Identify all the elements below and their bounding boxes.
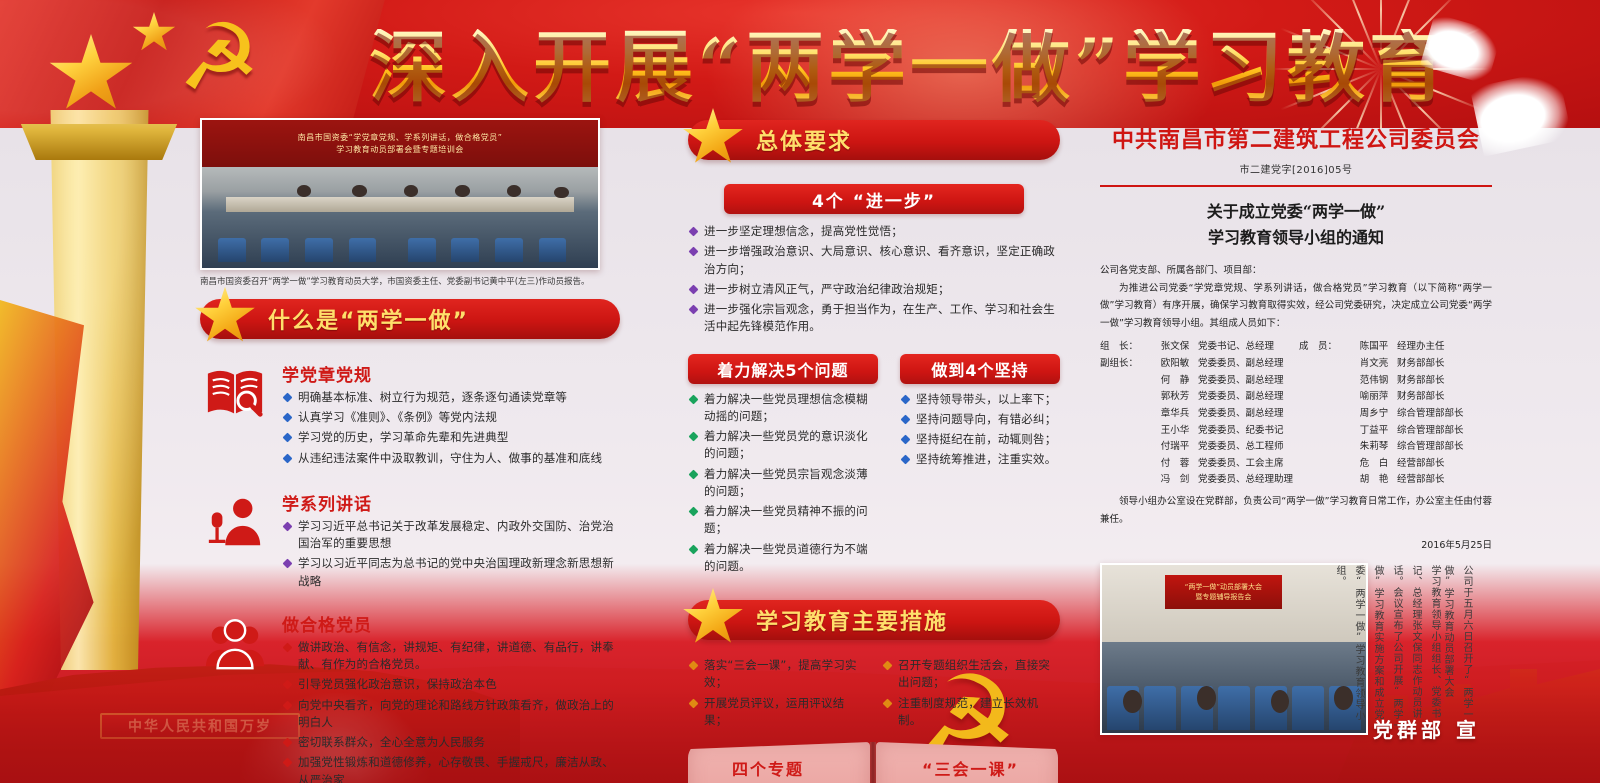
book-page-left: 四个专题 坚定执着追理想； 实事求是创新路； 艰苦奋斗攻难关； 依靠群众求胜利。 (688, 742, 870, 783)
roster-name: 付瑞平 (1152, 439, 1198, 456)
pill-five-problems-label: 着力解决5个问题 (717, 357, 848, 381)
document-subject-line2: 学习教育领导小组的通知 (1100, 225, 1492, 251)
topic-study-party-constitution: 学党章党规 明确基本标准、树立行为规范，逐条逐句通读党章等 认真学习《准则》、《… (200, 361, 620, 470)
photo-banner-line2: 学习教育动员部署会暨专题培训会 (336, 144, 464, 156)
roster-name: 章华兵 (1152, 406, 1198, 423)
banner-header: ☭ 深入开展“两学一做”学习教育 (0, 0, 1600, 128)
topic-heading: 做合格党员 (282, 611, 620, 636)
meeting-photo: 南昌市国资委“学党章党规、学系列讲话，做合格党员” 学习教育动员部署会暨专题培训… (200, 118, 600, 270)
roster-name: 王小华 (1152, 423, 1198, 440)
photo-head-table (226, 197, 574, 212)
table-row: 周乡宁综合管理部部长 (1299, 406, 1492, 423)
roster-name: 范伟钢 (1351, 373, 1397, 390)
document-number: 市二建党字[2016]05号 (1100, 161, 1492, 176)
roster-role (1100, 423, 1152, 440)
document-closing-block: 领导小组办公室设在党群部，负责公司“两学一做”学习教育日常工作，办公室主任由付蓉… (1100, 493, 1492, 528)
section-title-main-measures: 学习教育主要措施 (756, 604, 948, 636)
table-row: 肖文亮财务部部长 (1299, 356, 1492, 373)
roster-name: 喻丽萍 (1351, 389, 1397, 406)
photo-audience-seat (349, 238, 377, 262)
roster-post: 党委委员、副总经理 (1198, 373, 1293, 390)
topic-bullet-list: 做讲政治、有信念，讲规矩、有纪律，讲道德、有品行，讲奉献、有作为的合格党员。 引… (282, 639, 620, 783)
roster-post: 党委委员、副总经理 (1198, 406, 1293, 423)
photo-person (1197, 686, 1215, 710)
roster-role (1299, 356, 1351, 373)
speaker-microphone-icon (200, 490, 270, 556)
roster-post: 综合管理部部长 (1397, 439, 1492, 456)
pill-four-persistences-label: 做到4个坚持 (931, 357, 1028, 381)
roster-post: 综合管理部部长 (1397, 423, 1492, 440)
roster-post: 党委委员、副总经理 (1198, 356, 1293, 373)
roster-name: 郭秋芳 (1152, 389, 1198, 406)
table-row: 朱莉琴综合管理部部长 (1299, 439, 1492, 456)
list-item: 加强党性锻炼和道德修养，心存敬畏、手握戒尺，廉洁从政、从严治家 (282, 754, 620, 783)
roster-role (1100, 373, 1152, 390)
roster-name: 丁益平 (1351, 423, 1397, 440)
list-item: 从违纪违法案件中汲取教训，守住为人、做事的基准和底线 (282, 450, 602, 467)
footer-label: 党群部 宣 (1373, 714, 1480, 743)
topic-bullet-list: 明确基本标准、树立行为规范，逐条逐句通读党章等 认真学习《准则》、《条例》等党内… (282, 389, 602, 467)
roster-post: 经营部部长 (1397, 456, 1492, 473)
section-header-what-is: 什么是“两学一做” (200, 299, 620, 339)
list-item: 坚持领导带头，以上率下； (900, 391, 1060, 408)
vertical-text-column-2: 学习教育领导小组组长、党委书记、总经理张文保同志作动员讲话。会议宣布了公司开展“… (1330, 565, 1444, 733)
table-row: 胡 艳经营部部长 (1299, 472, 1492, 489)
list-item: 着力解决一些党员宗旨观念淡薄的问题； (688, 466, 878, 501)
list-item: 学习以习近平同志为总书记的党中央治国理政新理念新思想新战略 (282, 555, 620, 590)
list-item: 进一步坚定理想信念，提高党性觉悟； (688, 223, 1060, 240)
roster-name: 肖文亮 (1351, 356, 1397, 373)
topic-heading: 学系列讲话 (282, 490, 620, 515)
photo-audience-seat (1144, 686, 1176, 730)
photo-banner-line2: 暨专题辅导报告会 (1195, 592, 1251, 603)
open-book-magnifier-icon (200, 361, 270, 427)
book-right-content: “三会一课” 定期召开支部党员大会； 定期召开支部委员会； 定期召开党小组会； … (876, 756, 1058, 783)
four-steps-list: 进一步坚定理想信念，提高党性觉悟； 进一步增强政治意识、大局意识、核心意识、看齐… (688, 223, 1060, 336)
five-problems-list: 着力解决一些党员理想信念模糊动摇的问题； 着力解决一些党员党的意识淡化的问题； … (688, 391, 878, 576)
roster-role: 成 员： (1299, 339, 1351, 356)
roster-name: 冯 剑 (1152, 472, 1198, 489)
list-item: 开展党员评议，运用评议结果； (688, 695, 864, 730)
document-paragraph: 为推进公司党委“学党章党规、学系列讲话，做合格党员”学习教育（以下简称“两学一做… (1100, 280, 1492, 333)
roster-name: 何 静 (1152, 373, 1198, 390)
right-column: 中共南昌市第二建筑工程公司委员会 市二建党字[2016]05号 关于成立党委“两… (1100, 122, 1492, 735)
list-item: 学习习近平总书记关于改革发展稳定、内政外交国防、治党治国治军的重要思想 (282, 518, 620, 553)
block-four-persistences: 做到4个坚持 坚持领导带头，以上率下； 坚持问题导向，有错必纠； 坚持挺纪在前，… (900, 354, 1060, 579)
photo-and-vertical-text-row: “两学一做”动员部署大会 暨专题辅导报告会 公司于五月六日召开了“两学一做”学习… (1100, 563, 1492, 735)
document-addressee: 公司各党支部、所属各部门、项目部： (1100, 262, 1492, 280)
roster-name: 欧阳敏 (1152, 356, 1198, 373)
table-row: 何 静党委委员、副总经理 (1100, 373, 1293, 390)
table-row: 郭秋芳党委委员、副总经理 (1100, 389, 1293, 406)
roster-post: 经理办主任 (1397, 339, 1492, 356)
topic-study-speeches: 学系列讲话 学习习近平总书记关于改革发展稳定、内政外交国防、治党治国治军的重要思… (200, 490, 620, 593)
roster-post: 经营部部长 (1397, 472, 1492, 489)
roster-post: 党委委员、总工程师 (1198, 439, 1293, 456)
roster-role (1299, 406, 1351, 423)
book-left-content: 四个专题 坚定执着追理想； 实事求是创新路； 艰苦奋斗攻难关； 依靠群众求胜利。 (688, 756, 870, 783)
roster-name: 危 白 (1351, 456, 1397, 473)
photo-audience-seat (495, 238, 523, 262)
roster-role (1100, 439, 1152, 456)
list-item: 坚持挺纪在前，动辄则咎； (900, 431, 1060, 448)
photo-audience-seat (1292, 686, 1324, 730)
table-row: 王小华党委委员、纪委书记 (1100, 423, 1293, 440)
block-five-problems: 着力解决5个问题 着力解决一些党员理想信念模糊动摇的问题； 着力解决一些党员党的… (688, 354, 878, 579)
photo-person (352, 185, 366, 197)
section-title-what-is: 什么是“两学一做” (268, 303, 469, 335)
list-item: 坚持统筹推进，注重实效。 (900, 451, 1060, 468)
roster-role (1100, 472, 1152, 489)
roster-post: 党委委员、总经理助理 (1198, 472, 1293, 489)
mobilization-meeting-photo: “两学一做”动员部署大会 暨专题辅导报告会 (1100, 563, 1368, 735)
topic-qualified-party-member: 做合格党员 做讲政治、有信念，讲规矩、有纪律，讲道德、有品行，讲奉献、有作为的合… (200, 611, 620, 783)
hammer-sickle-icon: ☭ (178, 12, 260, 104)
roster-role (1299, 456, 1351, 473)
roster-post: 党委委员、工会主席 (1198, 456, 1293, 473)
leadership-roster: 组 长：张文保党委书记、总经理 副组长：欧阳敏党委委员、副总经理 何 静党委委员… (1100, 339, 1492, 489)
document-closing: 领导小组办公室设在党群部，负责公司“两学一做”学习教育日常工作，办公室主任由付蓉… (1100, 493, 1492, 528)
list-item: 坚持问题导向，有错必纠； (900, 411, 1060, 428)
pill-five-problems: 着力解决5个问题 (688, 354, 878, 384)
section-header-main-measures: 学习教育主要措施 (688, 600, 1060, 640)
table-row: 付 蓉党委委员、工会主席 (1100, 456, 1293, 473)
roster-name: 张文保 (1152, 339, 1198, 356)
topic-bullet-list: 学习习近平总书记关于改革发展稳定、内政外交国防、治党治国治军的重要思想 学习以习… (282, 518, 620, 590)
list-item: 密切联系群众，全心全意为人民服务 (282, 734, 620, 751)
section-header-overall-requirements: 总体要求 (688, 120, 1060, 160)
list-item: 进一步增强政治意识、大局意识、核心意识、看齐意识，坚定正确政治方向； (688, 243, 1060, 278)
table-row: 危 白经营部部长 (1299, 456, 1492, 473)
book-left-title: 四个专题 (732, 756, 870, 780)
two-pill-row: 着力解决5个问题 着力解决一些党员理想信念模糊动摇的问题； 着力解决一些党员党的… (688, 354, 1060, 579)
vertical-text-block: 公司于五月六日召开了“两学一做”学习教育动员部署大会 学习教育领导小组组长、党委… (1378, 563, 1478, 735)
pill-four-steps: 4个 “进一步” (724, 184, 1024, 214)
table-row: 付瑞平党委委员、总工程师 (1100, 439, 1293, 456)
list-item: 认真学习《准则》、《条例》等党内法规 (282, 409, 602, 426)
roster-post: 党委委员、副总经理 (1198, 389, 1293, 406)
photo-audience-seat (451, 238, 479, 262)
table-row: 丁益平综合管理部部长 (1299, 423, 1492, 440)
table-row: 成 员：陈国平经理办主任 (1299, 339, 1492, 356)
photo-audience-seat (261, 238, 289, 262)
roster-column-left: 组 长：张文保党委书记、总经理 副组长：欧阳敏党委委员、副总经理 何 静党委委员… (1100, 339, 1293, 489)
roster-role (1299, 439, 1351, 456)
table-row: 范伟钢财务部部长 (1299, 373, 1492, 390)
photo-person (455, 185, 469, 197)
roster-post: 财务部部长 (1397, 389, 1492, 406)
list-item: 着力解决一些党员精神不振的问题； (688, 503, 878, 538)
roster-role (1100, 456, 1152, 473)
topic-heading: 学党章党规 (282, 361, 602, 386)
photo-banner: 南昌市国资委“学党章党规、学系列讲话，做合格党员” 学习教育动员部署会暨专题培训… (202, 120, 598, 167)
photo-person (1123, 690, 1141, 714)
roster-role (1100, 406, 1152, 423)
photo-person (554, 187, 568, 199)
roster-role (1299, 389, 1351, 406)
section-title-overall-requirements: 总体要求 (756, 124, 852, 156)
roster-role: 副组长： (1100, 356, 1152, 373)
people-group-icon (200, 611, 270, 677)
roster-column-right: 成 员：陈国平经理办主任 肖文亮财务部部长 范伟钢财务部部长 喻丽萍财务部部长 … (1299, 339, 1492, 489)
roster-post: 财务部部长 (1397, 373, 1492, 390)
list-item: 注重制度规范，建立长效机制。 (882, 695, 1058, 730)
roster-name: 陈国平 (1351, 339, 1397, 356)
roster-post: 党委书记、总经理 (1198, 339, 1293, 356)
photo-audience-seat (408, 238, 436, 262)
left-column: 南昌市国资委“学党章党规、学系列讲话，做合格党员” 学习教育动员部署会暨专题培训… (200, 118, 620, 783)
poster-board: ☭ 深入开展“两学一做”学习教育 中华人民共和国万岁 ☭ 南昌市国资委“学党章党… (0, 0, 1600, 783)
measures-right-list: 召开专题组织生活会，直接突出问题； 注重制度规范，建立长效机制。 (882, 654, 1058, 732)
gold-star-icon (682, 588, 744, 648)
photo-audience-seat (1218, 686, 1250, 730)
table-row: 章华兵党委委员、副总经理 (1100, 406, 1293, 423)
list-item: 向党中央看齐，向党的理论和路线方针政策看齐，做政治上的明白人 (282, 697, 620, 732)
list-item: 引导党员强化政治意识，保持政治本色 (282, 676, 620, 693)
photo-banner: “两学一做”动员部署大会 暨专题辅导报告会 (1165, 575, 1281, 609)
roster-name: 胡 艳 (1351, 472, 1397, 489)
four-persistences-list: 坚持领导带头，以上率下； 坚持问题导向，有错必纠； 坚持挺纪在前，动辄则咎； 坚… (900, 391, 1060, 469)
roster-role (1299, 423, 1351, 440)
photo-person (404, 185, 418, 197)
book-right-title: “三会一课” (922, 756, 1058, 780)
measures-left-list: 落实“三会一课”，提高学习实效； 开展党员评议，运用评议结果； (688, 654, 864, 732)
table-row: 组 长：张文保党委书记、总经理 (1100, 339, 1293, 356)
photo-audience-seat (218, 238, 246, 262)
roster-post: 财务部部长 (1397, 356, 1492, 373)
list-item: 着力解决一些党员党的意识淡化的问题； (688, 428, 878, 463)
list-item: 着力解决一些党员理想信念模糊动摇的问题； (688, 391, 878, 426)
roster-role (1299, 472, 1351, 489)
list-item: 进一步强化宗旨观念，勇于担当作为，在生产、工作、学习和社会生活中起先锋模范作用。 (688, 301, 1060, 336)
table-row: 副组长：欧阳敏党委委员、副总经理 (1100, 356, 1293, 373)
book-spine (870, 742, 876, 783)
roster-name: 朱莉琴 (1351, 439, 1397, 456)
photo-audience-seat (539, 238, 567, 262)
list-item: 学习党的历史，学习革命先辈和先进典型 (282, 429, 602, 446)
pill-four-steps-label: 4个 “进一步” (812, 187, 936, 212)
gold-star-icon (194, 287, 256, 347)
page-title: 深入开展“两学一做”学习教育 (369, 29, 1451, 107)
document-subject: 关于成立党委“两学一做” 学习教育领导小组的通知 (1100, 199, 1492, 250)
photo-banner-line1: 南昌市国资委“学党章党规、学系列讲话，做合格党员” (298, 132, 503, 144)
roster-name: 周乡宁 (1351, 406, 1397, 423)
roster-post: 党委委员、纪委书记 (1198, 423, 1293, 440)
document-subject-line1: 关于成立党委“两学一做” (1100, 199, 1492, 225)
roster-name: 付 蓉 (1152, 456, 1198, 473)
list-item: 明确基本标准、树立行为规范，逐条逐句通读党章等 (282, 389, 602, 406)
measures-row: 落实“三会一课”，提高学习实效； 开展党员评议，运用评议结果； 召开专题组织生活… (688, 654, 1060, 732)
roster-role: 组 长： (1100, 339, 1152, 356)
list-item: 召开专题组织生活会，直接突出问题； (882, 657, 1058, 692)
document-org-title: 中共南昌市第二建筑工程公司委员会 (1100, 122, 1492, 154)
open-book-graphic: 四个专题 坚定执着追理想； 实事求是创新路； 艰苦奋斗攻难关； 依靠群众求胜利。… (688, 742, 1058, 783)
book-page-right: “三会一课” 定期召开支部党员大会； 定期召开支部委员会； 定期召开党小组会； … (876, 742, 1058, 783)
table-row: 冯 剑党委委员、总经理助理 (1100, 472, 1293, 489)
document-body: 公司各党支部、所属各部门、项目部： 为推进公司党委“学党章党规、学系列讲话，做合… (1100, 262, 1492, 332)
photo-audience-seat (305, 238, 333, 262)
middle-column: 总体要求 4个 “进一步” 进一步坚定理想信念，提高党性觉悟； 进一步增强政治意… (688, 120, 1060, 783)
table-row: 喻丽萍财务部部长 (1299, 389, 1492, 406)
photo-caption: 南昌市国资委召开“两学一做”学习教育动员大学，市国资委主任、党委副书记黄中平(左… (200, 276, 620, 289)
document-divider (1100, 185, 1492, 187)
photo-banner-line1: “两学一做”动员部署大会 (1185, 582, 1262, 593)
pill-four-persistences: 做到4个坚持 (900, 354, 1060, 384)
party-emblem: ☭ (178, 12, 318, 120)
list-item: 着力解决一些党员道德行为不端的问题。 (688, 541, 878, 576)
roster-role (1299, 373, 1351, 390)
photo-person (507, 185, 521, 197)
title-container: 深入开展“两学一做”学习教育 (330, 14, 1490, 122)
document-date: 2016年5月25日 (1100, 537, 1492, 551)
list-item: 做讲政治、有信念，讲规矩、有纪律，讲道德、有品行，讲奉献、有作为的合格党员。 (282, 639, 620, 674)
list-item: 落实“三会一课”，提高学习实效； (688, 657, 864, 692)
roster-role (1100, 389, 1152, 406)
roster-post: 综合管理部部长 (1397, 406, 1492, 423)
list-item: 进一步树立清风正气，严守政治纪律政治规矩； (688, 281, 1060, 298)
